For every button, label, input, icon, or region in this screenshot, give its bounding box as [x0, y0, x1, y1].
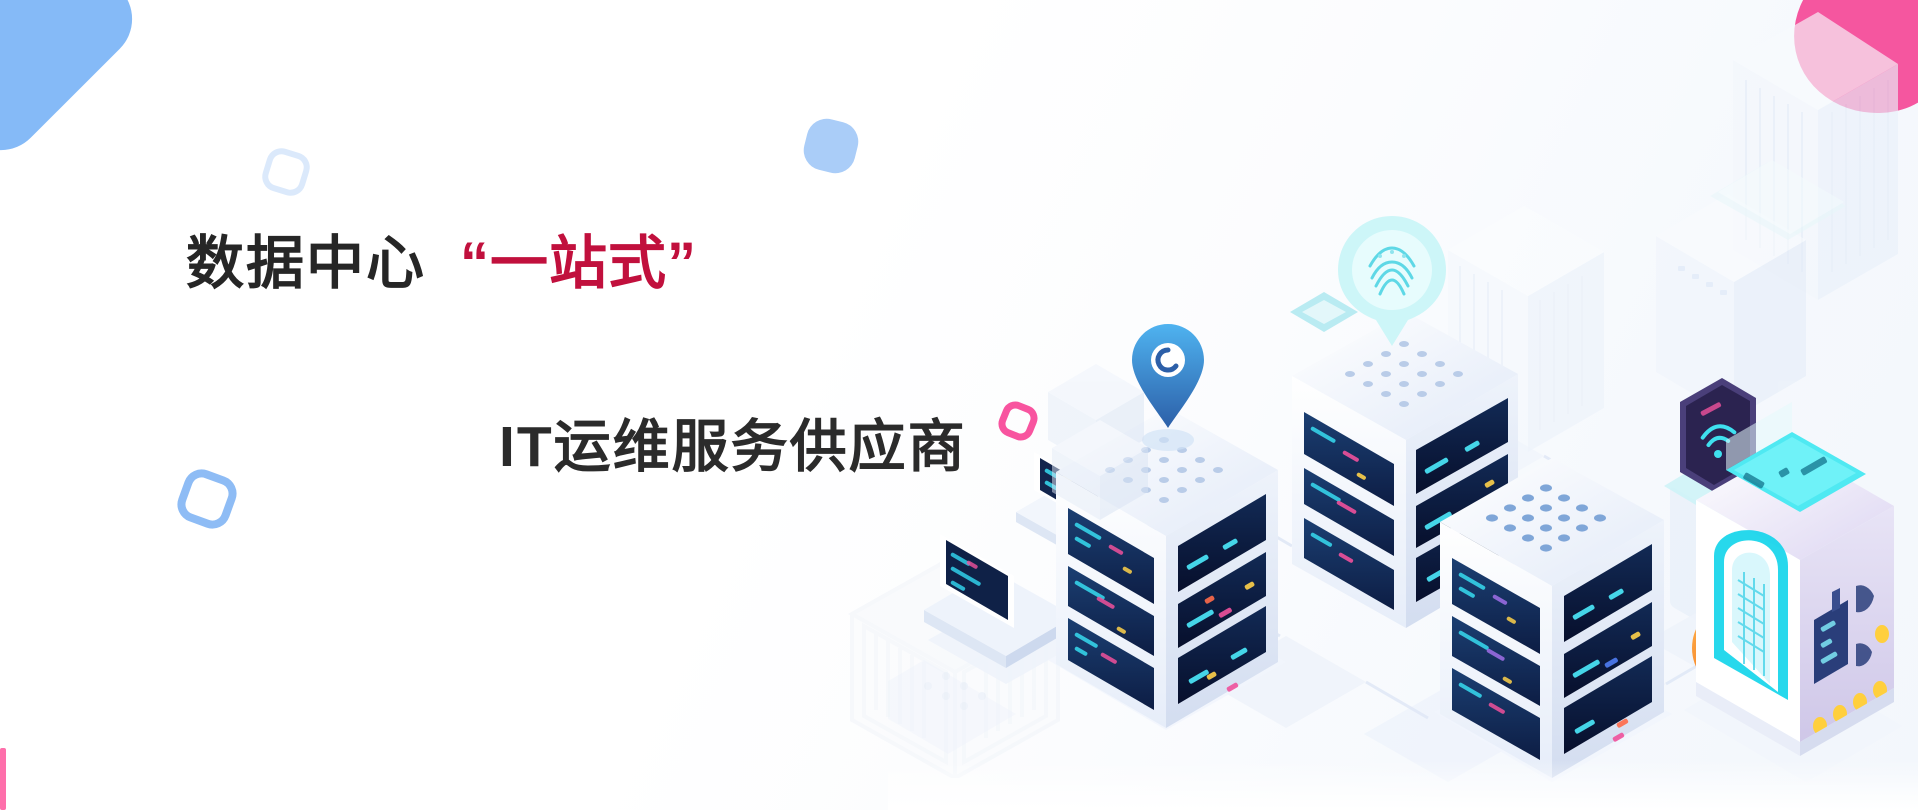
server-rack-front-left	[1048, 324, 1286, 730]
connection-lines	[1084, 420, 1724, 734]
headline-primary-text: 数据中心	[186, 228, 426, 301]
headline-block: 数据中心 “一站式” IT运维服务供应商	[186, 228, 1046, 483]
hero-banner: 数据中心 “一站式” IT运维服务供应商	[0, 0, 1918, 810]
edge-pink-bar	[0, 748, 6, 810]
server-rack-front-right	[1434, 458, 1672, 782]
mainframe-display	[1726, 402, 1866, 512]
background-server-rack	[1656, 194, 1806, 634]
ring-blue-light-icon	[259, 145, 314, 200]
server-rack-back-center	[1292, 216, 1522, 628]
headline-line-2: IT运维服务供应商	[499, 401, 1046, 483]
coin-token-icon	[1692, 608, 1760, 688]
ghost-server-cube-icon	[840, 548, 1070, 778]
corner-pink-blob	[1779, 0, 1918, 129]
ghost-cube-small	[1048, 364, 1148, 520]
headline-line-1: 数据中心 “一站式”	[186, 228, 1046, 301]
corner-blue-rounded-square	[0, 0, 149, 167]
mainframe-unit	[1684, 402, 1902, 782]
smartphone-wifi	[1664, 378, 1788, 524]
headline-accent-text: “一站式”	[460, 228, 697, 301]
fingerprint-scanner-icon	[1338, 216, 1446, 346]
background-screen	[1710, 160, 1846, 240]
blob-blue-filled-icon	[799, 114, 862, 177]
mainframe-vent	[1714, 530, 1788, 700]
teal-diamond-icon	[1290, 292, 1358, 332]
location-pin-icon	[1132, 324, 1204, 451]
